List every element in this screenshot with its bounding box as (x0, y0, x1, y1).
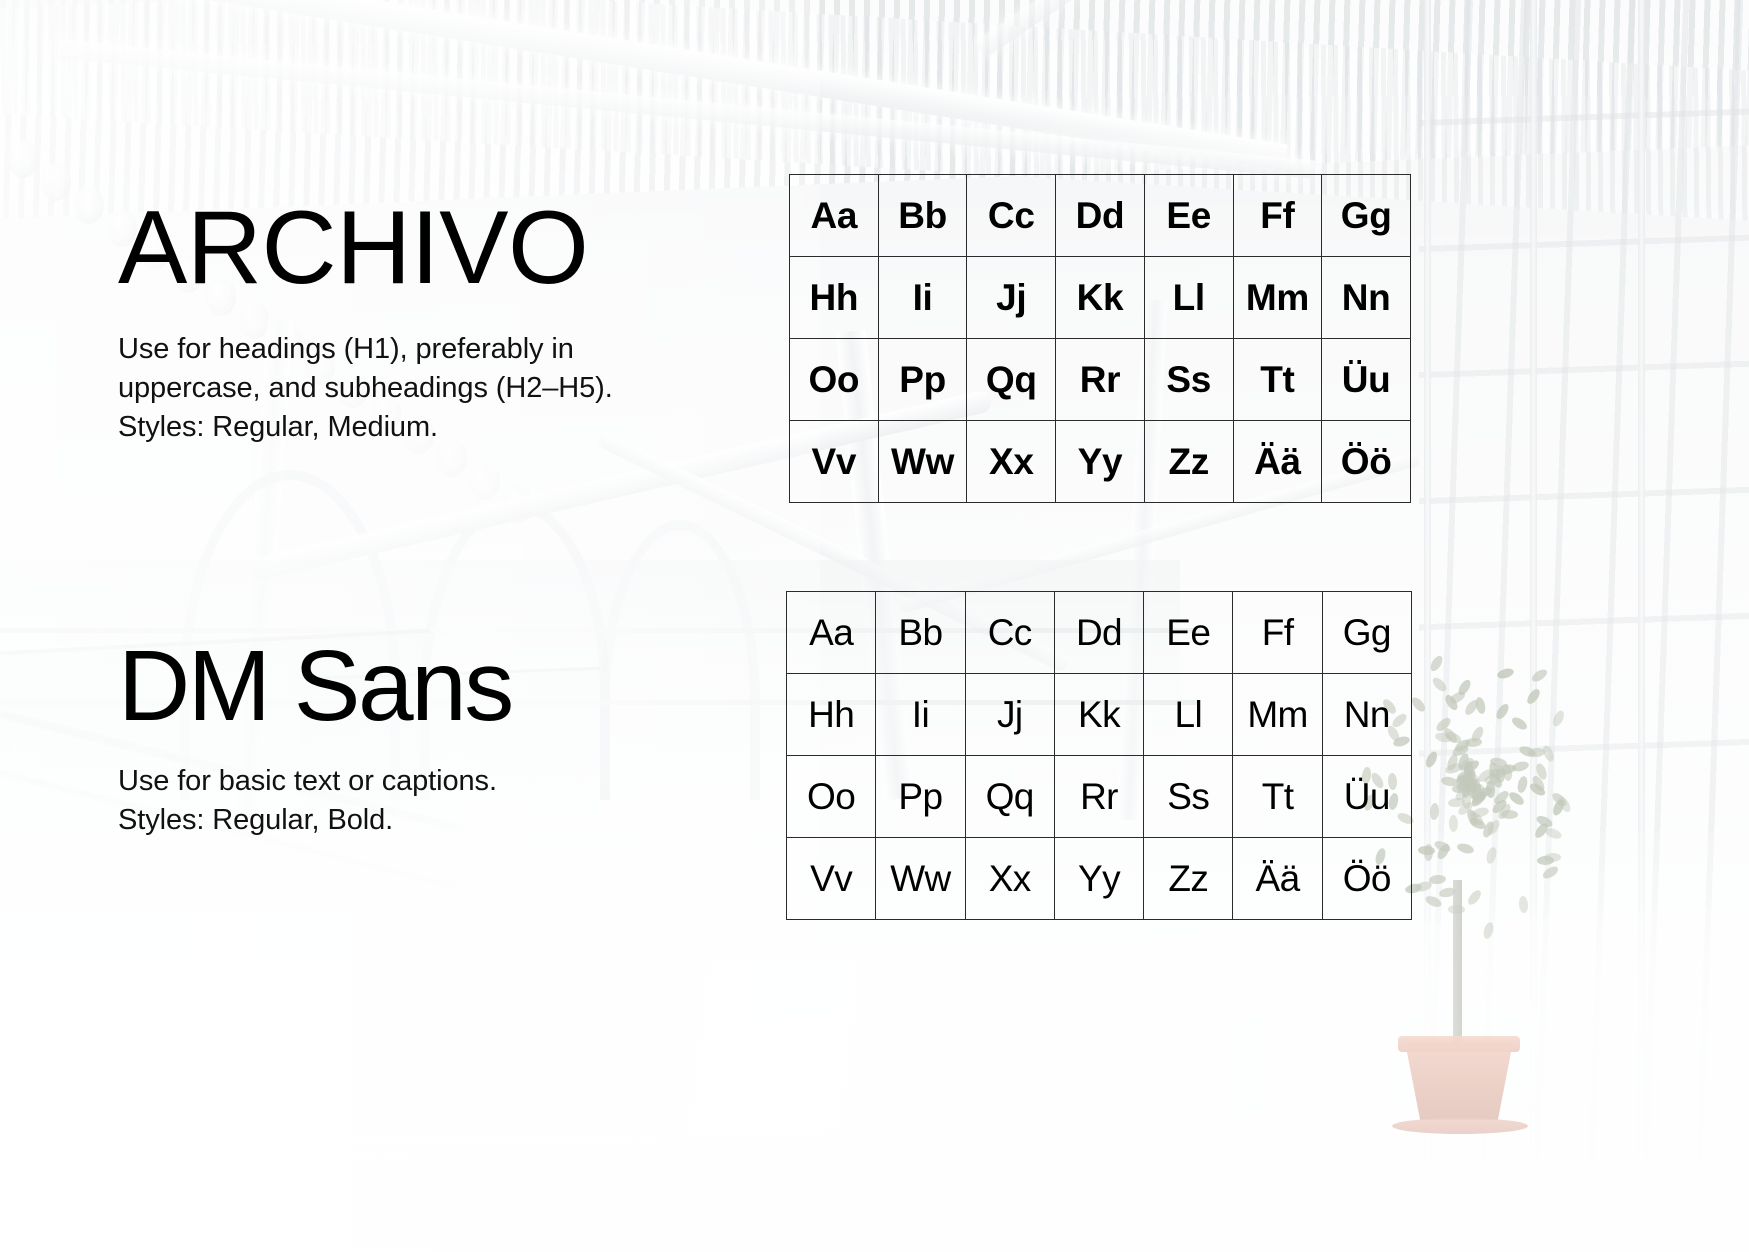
alphabet-grid-archivo: AaBbCcDdEeFfGgHhIiJjKkLlMmNnOoPpQqRrSsTt… (789, 174, 1411, 503)
glyph-cell: Cc (967, 175, 1056, 257)
glyph-cell: Öö (1323, 838, 1412, 920)
glyph-cell: Hh (790, 257, 879, 339)
glyph-cell: Pp (879, 339, 968, 421)
glyph-cell: Oo (790, 339, 879, 421)
typography-guide-slide: ARCHIVO Use for headings (H1), preferabl… (0, 0, 1749, 1252)
glyph-cell: Gg (1322, 175, 1411, 257)
glyph-cell: Nn (1322, 257, 1411, 339)
alphabet-grid-dmsans: AaBbCcDdEeFfGgHhIiJjKkLlMmNnOoPpQqRrSsTt… (786, 591, 1412, 920)
glyph-cell: Xx (966, 838, 1055, 920)
typeface-description-dmsans-text: Use for basic text or captions. Styles: … (118, 762, 678, 840)
glyph-cell: Mm (1234, 257, 1323, 339)
glyph-cell: Ww (876, 838, 965, 920)
glyph-cell: Bb (876, 592, 965, 674)
glyph-cell: Ää (1233, 838, 1322, 920)
glyph-cell: Pp (876, 756, 965, 838)
glyph-cell: Rr (1056, 339, 1145, 421)
glyph-cell: Ee (1145, 175, 1234, 257)
glyph-cell: Aa (787, 592, 876, 674)
glyph-cell: Bb (879, 175, 968, 257)
glyph-cell: Ww (879, 421, 968, 503)
glyph-cell: Ll (1145, 257, 1234, 339)
glyph-cell: Kk (1055, 674, 1144, 756)
typeface-description-archivo: Use for headings (H1), preferably in upp… (118, 330, 758, 447)
glyph-cell: Üu (1322, 339, 1411, 421)
glyph-cell: Ss (1145, 339, 1234, 421)
glyph-cell: Ii (876, 674, 965, 756)
typeface-description-dmsans: Use for basic text or captions. Styles: … (118, 762, 678, 840)
glyph-cell: Kk (1056, 257, 1145, 339)
typeface-name-archivo: ARCHIVO (118, 196, 758, 300)
glyph-cell: Yy (1056, 421, 1145, 503)
glyph-cell: Ff (1233, 592, 1322, 674)
glyph-cell: Jj (967, 257, 1056, 339)
typeface-block-dmsans: DM Sans Use for basic text or captions. … (118, 636, 678, 840)
glyph-cell: Oo (787, 756, 876, 838)
glyph-cell: Öö (1322, 421, 1411, 503)
glyph-cell: Ää (1234, 421, 1323, 503)
glyph-cell: Ll (1144, 674, 1233, 756)
typeface-block-archivo: ARCHIVO Use for headings (H1), preferabl… (118, 196, 758, 447)
typeface-name-dmsans: DM Sans (118, 636, 678, 736)
glyph-cell: Ss (1144, 756, 1233, 838)
glyph-cell: Hh (787, 674, 876, 756)
glyph-cell: Rr (1055, 756, 1144, 838)
glyph-cell: Zz (1145, 421, 1234, 503)
glyph-cell: Nn (1323, 674, 1412, 756)
glyph-cell: Xx (967, 421, 1056, 503)
glyph-cell: Gg (1323, 592, 1412, 674)
glyph-cell: Dd (1055, 592, 1144, 674)
glyph-cell: Ff (1234, 175, 1323, 257)
glyph-cell: Ee (1144, 592, 1233, 674)
glyph-cell: Üu (1323, 756, 1412, 838)
glyph-cell: Qq (966, 756, 1055, 838)
glyph-cell: Qq (967, 339, 1056, 421)
glyph-cell: Vv (787, 838, 876, 920)
glyph-cell: Zz (1144, 838, 1233, 920)
glyph-cell: Tt (1234, 339, 1323, 421)
glyph-cell: Yy (1055, 838, 1144, 920)
typeface-description-archivo-text: Use for headings (H1), preferably in upp… (118, 330, 758, 447)
glyph-cell: Cc (966, 592, 1055, 674)
glyph-cell: Aa (790, 175, 879, 257)
glyph-cell: Dd (1056, 175, 1145, 257)
glyph-cell: Jj (966, 674, 1055, 756)
glyph-cell: Tt (1233, 756, 1322, 838)
glyph-cell: Ii (879, 257, 968, 339)
glyph-cell: Mm (1233, 674, 1322, 756)
glyph-cell: Vv (790, 421, 879, 503)
slide-content: ARCHIVO Use for headings (H1), preferabl… (0, 0, 1749, 1252)
